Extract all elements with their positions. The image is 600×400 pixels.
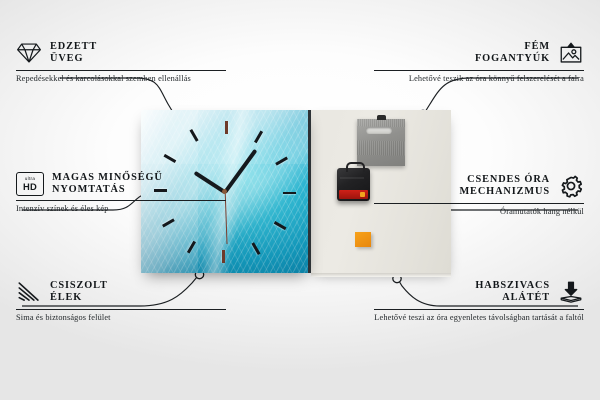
feature-title-line2: MECHANIZMUS <box>459 186 550 198</box>
divider <box>374 203 584 204</box>
feature-header: EDZETT ÜVEG <box>16 40 226 66</box>
feature-title-line2: ALÁTÉT <box>475 292 550 304</box>
feature-csiszolt-elek: CSISZOLT ÉLEK Sima és biztonságos felüle… <box>16 279 226 324</box>
feature-title-line2: ÜVEG <box>50 53 97 65</box>
feature-header: CSISZOLT ÉLEK <box>16 279 226 305</box>
feature-subtitle: Intenzív színek és éles kép <box>16 204 226 215</box>
diagonal-lines-icon <box>16 279 42 305</box>
divider <box>374 70 584 71</box>
divider <box>16 70 226 71</box>
feature-titles: EDZETT ÜVEG <box>50 41 97 64</box>
feature-header: CSENDES ÓRA MECHANIZMUS <box>374 173 584 199</box>
infographic-stage: EDZETT ÜVEG Repedésekkel és karcolásokka… <box>0 0 600 400</box>
picture-hanger-icon <box>558 40 584 66</box>
feature-title-line1: HABSZIVACS <box>475 280 550 292</box>
feature-title-line1: EDZETT <box>50 41 97 53</box>
feature-magas-minosegu-nyomtatas: ultra HD MAGAS MINŐSÉGŰ NYOMTATÁS Intenz… <box>16 172 226 215</box>
diamond-icon <box>16 40 42 66</box>
feature-title-line2: ÉLEK <box>50 292 108 304</box>
clock-mechanism <box>337 168 370 201</box>
battery <box>339 190 368 199</box>
feature-habszivacs-alatet: HABSZIVACS ALÁTÉT Lehetővé teszi az óra … <box>374 279 584 324</box>
feature-titles: CSISZOLT ÉLEK <box>50 280 108 303</box>
feature-subtitle: Óramutatók hang nélkül <box>374 207 584 218</box>
feature-subtitle: Repedésekkel és karcolásokkal szemben el… <box>16 74 226 85</box>
feature-title-line1: CSISZOLT <box>50 280 108 292</box>
feature-title-line1: FÉM <box>475 41 550 53</box>
metal-hanger-plate <box>357 119 405 166</box>
ultra-hd-badge-icon: ultra HD <box>16 172 44 196</box>
feature-titles: FÉM FOGANTYÚK <box>475 41 550 64</box>
feature-title-line1: CSENDES ÓRA <box>459 174 550 186</box>
feature-title-line2: FOGANTYÚK <box>475 53 550 65</box>
feature-subtitle: Sima és biztonságos felület <box>16 313 226 324</box>
feature-subtitle: Lehetővé teszi az óra egyenletes távolsá… <box>374 313 584 324</box>
feature-header: HABSZIVACS ALÁTÉT <box>374 279 584 305</box>
feature-edzett-uveg: EDZETT ÜVEG Repedésekkel és karcolásokka… <box>16 40 226 85</box>
feature-csendes-ora-mechanizmus: CSENDES ÓRA MECHANIZMUS Óramutatók hang … <box>374 173 584 218</box>
mechanism-seam <box>340 177 364 179</box>
feature-subtitle: Lehetővé teszik az óra könnyű felszerelé… <box>374 74 584 85</box>
feature-titles: HABSZIVACS ALÁTÉT <box>475 280 550 303</box>
hanger-keyhole-slot <box>366 127 392 134</box>
divider <box>16 200 226 201</box>
mechanism-hanger-loop <box>346 162 365 172</box>
gear-icon <box>558 173 584 199</box>
feature-header: ultra HD MAGAS MINŐSÉGŰ NYOMTATÁS <box>16 172 226 196</box>
clock-minute-hand <box>223 148 256 192</box>
divider <box>16 309 226 310</box>
feature-title-line2: NYOMTATÁS <box>52 184 163 196</box>
feature-titles: MAGAS MINŐSÉGŰ NYOMTATÁS <box>52 172 163 195</box>
foam-pad <box>355 232 371 247</box>
feature-titles: CSENDES ÓRA MECHANIZMUS <box>459 174 550 197</box>
foam-pad-arrow-icon <box>558 279 584 305</box>
feature-header: FÉM FOGANTYÚK <box>374 40 584 66</box>
feature-fem-fogantyuk: FÉM FOGANTYÚK Lehetővé teszik az óra kön… <box>374 40 584 85</box>
divider <box>374 309 584 310</box>
feature-title-line1: MAGAS MINŐSÉGŰ <box>52 172 163 184</box>
badge-text-large: HD <box>23 182 37 191</box>
hanger-nub <box>377 115 386 120</box>
